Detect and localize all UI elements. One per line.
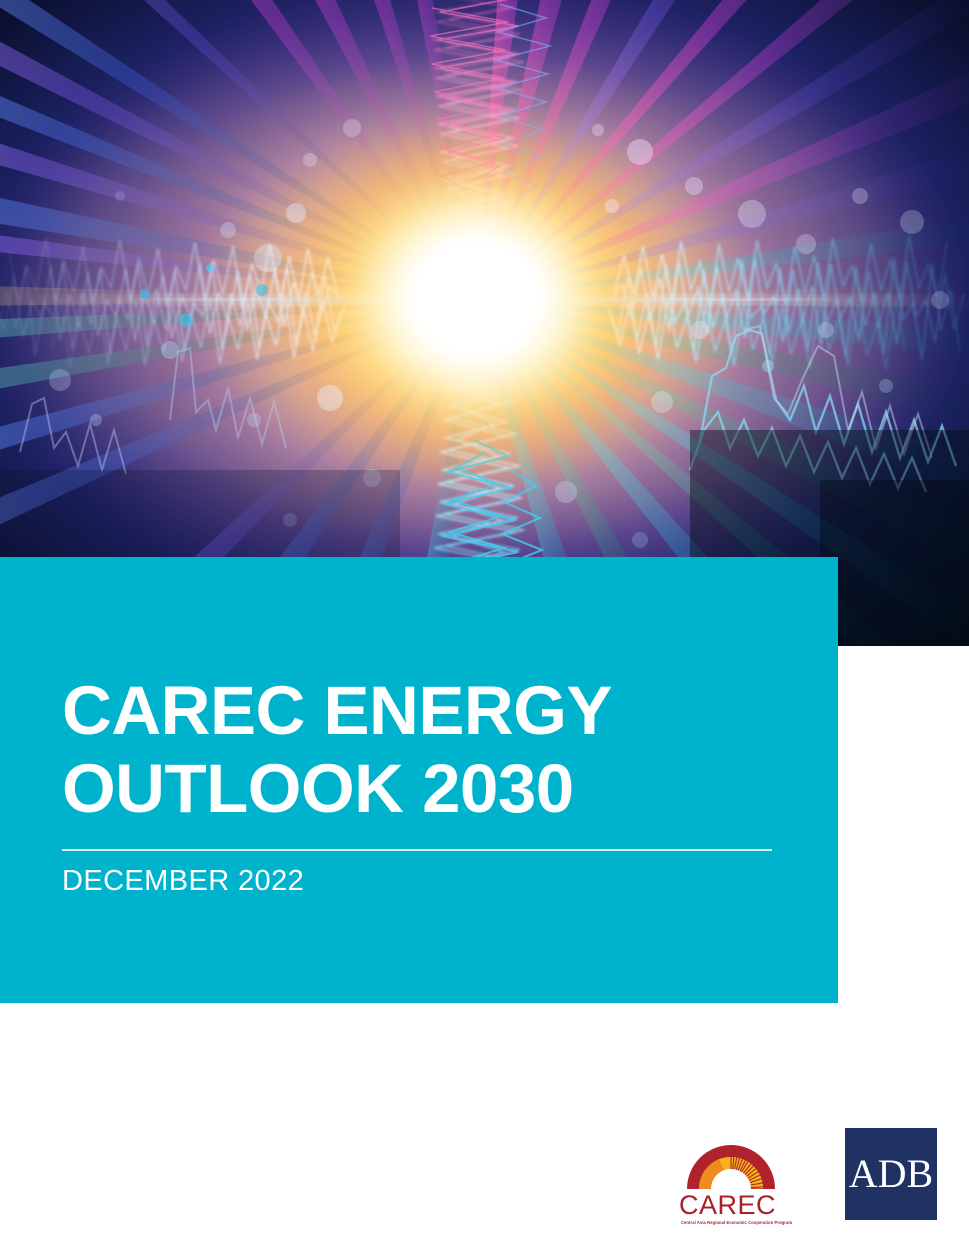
cover-title-group: CAREC ENERGY OUTLOOK 2030 DECEMBER 2022: [62, 672, 782, 898]
carec-arc-icon: [687, 1144, 775, 1189]
carec-logo: CAREC Central Asia Regional Economic Coo…: [675, 1125, 795, 1230]
publication-date: DECEMBER 2022: [62, 851, 782, 898]
adb-wordmark: ADB: [849, 1154, 933, 1194]
carec-tagline: Central Asia Regional Economic Cooperati…: [681, 1220, 792, 1225]
page-title: CAREC ENERGY OUTLOOK 2030: [62, 672, 782, 828]
cover-hero-image: [0, 0, 969, 646]
adb-logo: ADB: [845, 1128, 937, 1220]
cover-footer: [0, 1003, 969, 1256]
carec-wordmark: CAREC: [679, 1190, 776, 1220]
cover-title-block: CAREC ENERGY OUTLOOK 2030 DECEMBER 2022: [0, 557, 838, 1003]
report-cover: CAREC ENERGY OUTLOOK 2030 DECEMBER 2022: [0, 0, 969, 1256]
